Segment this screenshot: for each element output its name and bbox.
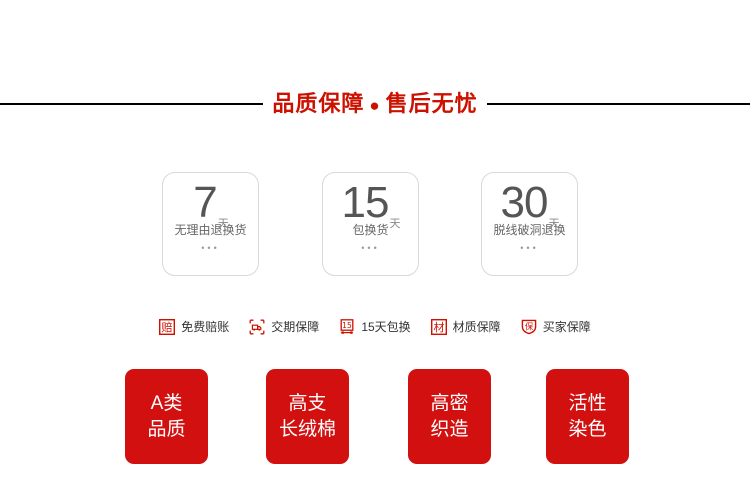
guarantee-card[interactable]: 7天 无理由退换货 ••• bbox=[162, 172, 259, 276]
guarantee-card-number: 30 bbox=[501, 178, 548, 227]
feature-box[interactable]: 高支 长绒棉 bbox=[266, 369, 349, 464]
feature-box-line1: 高支 bbox=[288, 391, 326, 417]
section-title-band: 品质保障●售后无忧 bbox=[0, 86, 750, 122]
title-rule-right bbox=[487, 103, 750, 105]
feature-box-line2: 长绒棉 bbox=[279, 417, 336, 443]
service-badge-15day-exchange[interactable]: 15 15天包换 bbox=[339, 319, 410, 335]
svg-text:15: 15 bbox=[342, 321, 352, 330]
guarantee-card-unit: 天 bbox=[548, 218, 559, 230]
cai-square-icon: 材 bbox=[431, 319, 447, 335]
feature-box-row: A类 品质 高支 长绒棉 高密 织造 活性 染色 bbox=[0, 369, 750, 465]
guarantee-card-number: 15 bbox=[342, 178, 389, 227]
page-title: 品质保障●售后无忧 bbox=[272, 93, 477, 115]
feature-box-line2: 染色 bbox=[568, 417, 606, 443]
feature-box-line2: 品质 bbox=[147, 417, 185, 443]
service-badge-row: 赔 免费赔账 交期保障 15 15天包换 bbox=[0, 315, 750, 339]
svg-text:保: 保 bbox=[525, 321, 534, 331]
feature-box-line1: A类 bbox=[151, 391, 183, 417]
guarantee-card-dots: ••• bbox=[323, 244, 418, 253]
svg-text:赔: 赔 bbox=[162, 320, 173, 334]
feature-box-line1: 活性 bbox=[568, 391, 606, 417]
service-badge-label: 免费赔账 bbox=[181, 319, 229, 335]
title-rule-left bbox=[0, 103, 263, 105]
service-badge-buyer-protection[interactable]: 保 买家保障 bbox=[521, 319, 591, 335]
page-title-sub: 售后无忧 bbox=[386, 91, 478, 116]
service-badge-material-guarantee[interactable]: 材 材质保障 bbox=[431, 319, 501, 335]
feature-box[interactable]: 高密 织造 bbox=[408, 369, 491, 464]
title-separator-dot: ● bbox=[364, 96, 385, 115]
feature-box[interactable]: 活性 染色 bbox=[546, 369, 629, 464]
truck-square-icon bbox=[249, 319, 265, 335]
feature-box[interactable]: A类 品质 bbox=[125, 369, 208, 464]
service-badge-label: 材质保障 bbox=[453, 319, 501, 335]
svg-text:材: 材 bbox=[433, 320, 444, 334]
service-badge-label: 交期保障 bbox=[271, 319, 319, 335]
guarantee-card-number-line: 15天 bbox=[323, 179, 418, 227]
guarantee-card-number-line: 30天 bbox=[482, 179, 577, 227]
guarantee-card-number-line: 7天 bbox=[163, 179, 258, 227]
guarantee-card-dots: ••• bbox=[163, 244, 258, 253]
promo-page: 品质保障●售后无忧 7天 无理由退换货 ••• 15天 包换货 ••• 30天 … bbox=[0, 0, 750, 503]
pei-square-icon: 赔 bbox=[159, 319, 175, 335]
guarantee-cards-row: 7天 无理由退换货 ••• 15天 包换货 ••• 30天 脱线破洞退换 ••• bbox=[0, 172, 750, 277]
service-badge-delivery-guarantee[interactable]: 交期保障 bbox=[249, 319, 319, 335]
page-title-main: 品质保障 bbox=[272, 91, 364, 116]
feature-box-line2: 织造 bbox=[430, 417, 468, 443]
guarantee-card-number: 7 bbox=[193, 178, 216, 227]
bao-shield-icon: 保 bbox=[521, 319, 537, 335]
service-badge-label: 买家保障 bbox=[543, 319, 591, 335]
service-badge-free-compensation[interactable]: 赔 免费赔账 bbox=[159, 319, 229, 335]
feature-box-line1: 高密 bbox=[430, 391, 468, 417]
guarantee-card-unit: 天 bbox=[218, 218, 229, 230]
fifteen-square-icon: 15 bbox=[339, 319, 355, 335]
guarantee-card-unit: 天 bbox=[389, 218, 400, 230]
guarantee-card[interactable]: 30天 脱线破洞退换 ••• bbox=[481, 172, 578, 276]
guarantee-card-dots: ••• bbox=[482, 244, 577, 253]
service-badge-label: 15天包换 bbox=[361, 319, 410, 335]
guarantee-card[interactable]: 15天 包换货 ••• bbox=[322, 172, 419, 276]
